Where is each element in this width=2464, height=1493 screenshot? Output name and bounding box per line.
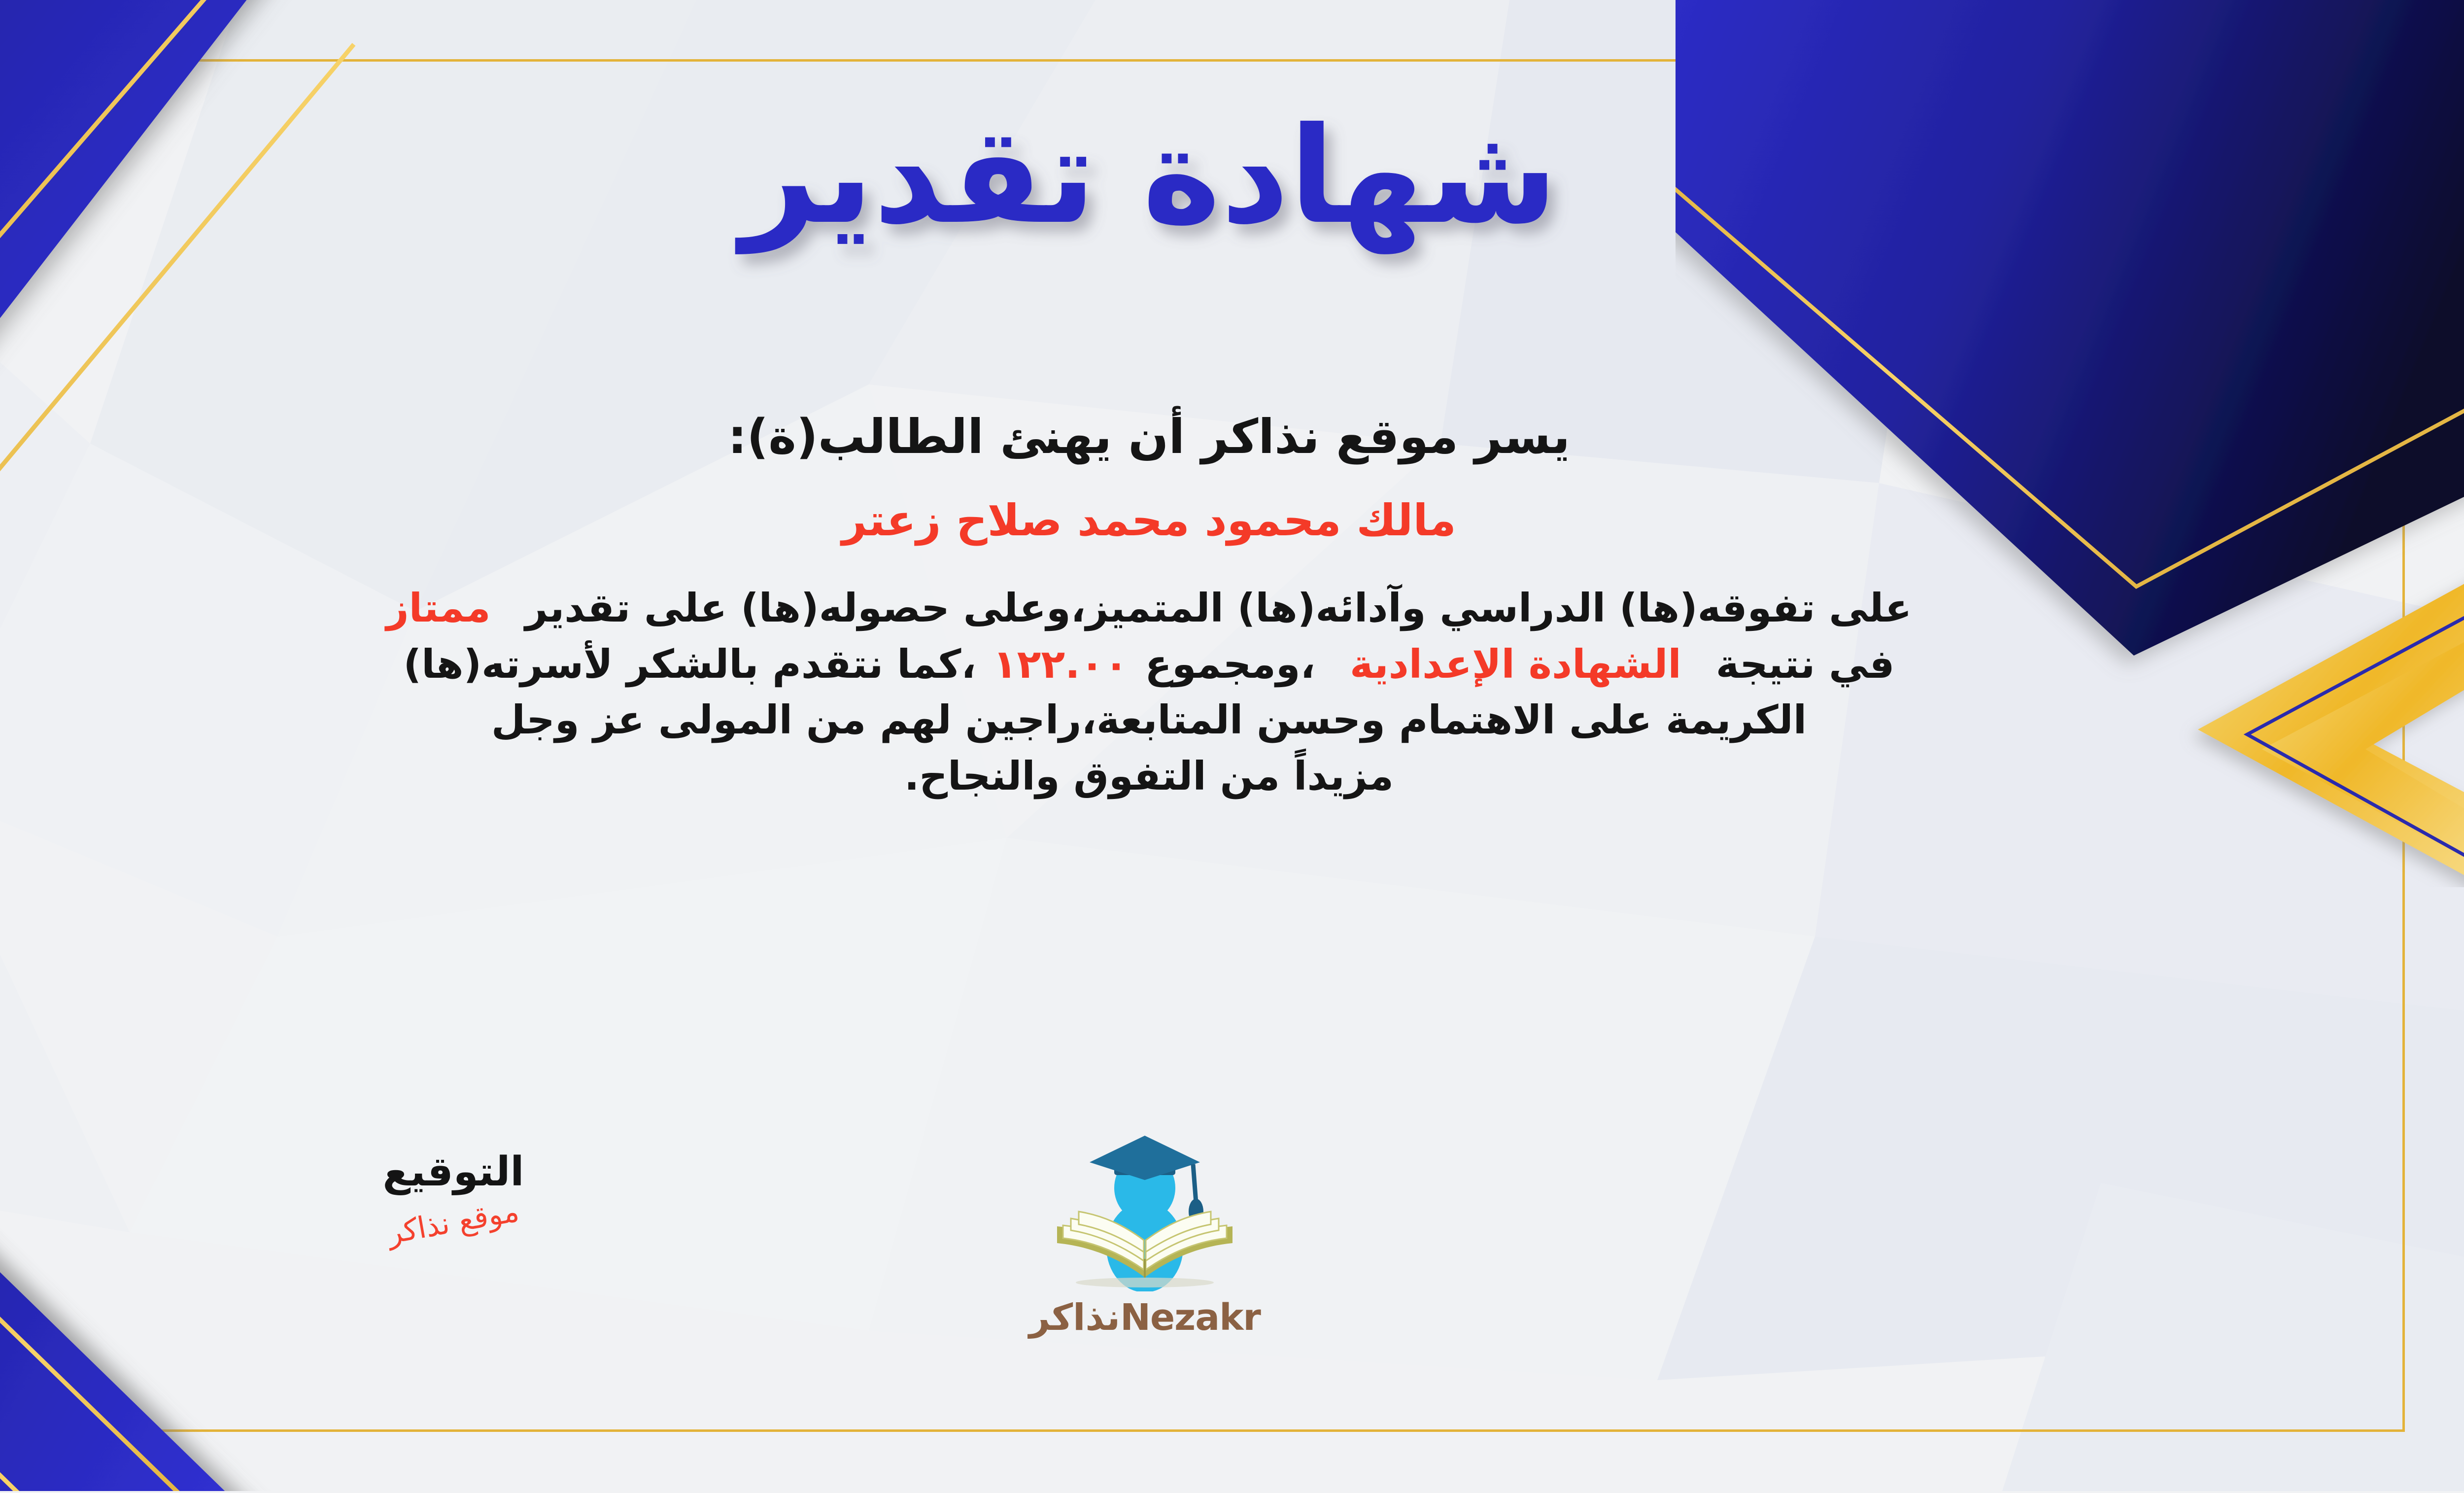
title-calligraphy: شهادة تقدير [681, 74, 1617, 281]
body-line1-text: على تفوقه(ها) الدراسي وآدائه(ها) المتميز… [525, 585, 1912, 631]
brand-wordmark-arabic: نذاكر [1029, 1296, 1120, 1339]
brand-wordmark-latin: Nezakr [1120, 1296, 1261, 1339]
body-row-exam: في نتيجةالشهادة الإعدادية،ومجموع١٢٢.٠٠،ك… [0, 636, 2365, 693]
body-row-three: الكريمة على الاهتمام وحسن المتابعة،راجين… [0, 692, 2365, 748]
body-row-grade: على تفوقه(ها) الدراسي وآدائه(ها) المتميز… [0, 580, 2365, 636]
body-line2-middle: ،ومجموع [1145, 641, 1315, 687]
signature-mark: موقع نذاكر [385, 1194, 521, 1251]
certificate-body: على تفوقه(ها) الدراسي وآدائه(ها) المتميز… [0, 580, 2365, 804]
grade-value: ممتاز [386, 585, 491, 631]
body-line2-prefix: في نتيجة [1716, 641, 1895, 687]
brand-wordmark: Nezakrنذاكر [982, 1296, 1307, 1339]
certificate-title: شهادة تقدير [0, 74, 2464, 283]
body-row-four: مزيداً من التفوق والنجاح. [0, 748, 2365, 804]
total-score: ١٢٢.٠٠ [993, 641, 1129, 687]
title-text: شهادة تقدير [734, 98, 1558, 255]
greeting-line: يسر موقع نذاكر أن يهنئ الطالب(ة): [0, 409, 2365, 464]
brand-logo: Nezakrنذاكر [982, 1129, 1307, 1339]
signature-block: التوقيع موقع نذاكر [296, 1148, 611, 1240]
body-line2-suffix: ،كما نتقدم بالشكر لأسرته(ها) [404, 641, 976, 687]
student-name: مالك محمود محمد صلاح زعتر [0, 495, 2365, 546]
signature-label: التوقيع [296, 1148, 611, 1195]
exam-name: الشهادة الإعدادية [1350, 641, 1681, 687]
graduate-open-book-icon [1041, 1129, 1248, 1291]
